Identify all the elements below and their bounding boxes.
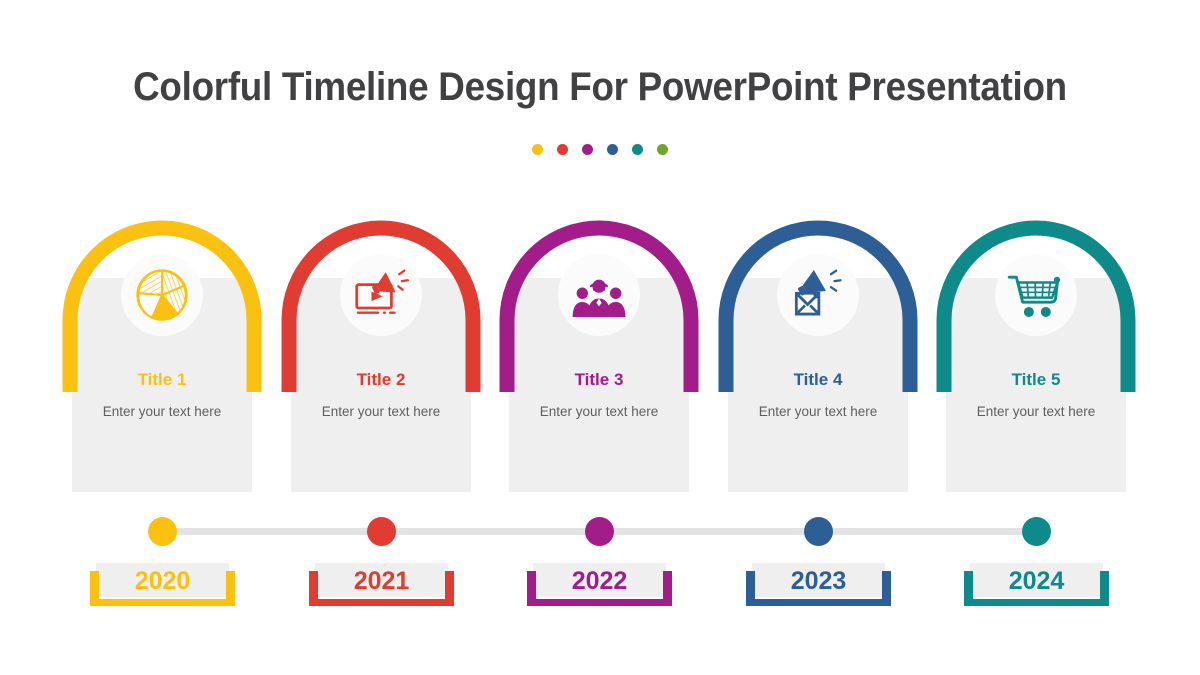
card-title: Title 5: [946, 370, 1126, 390]
card-title: Title 2: [291, 370, 471, 390]
card-description: Enter your text here: [285, 404, 477, 419]
timeline-milestone-dot-2[interactable]: [367, 517, 396, 546]
timeline-milestone-dot-3[interactable]: [585, 517, 614, 546]
year-label: 2022: [527, 567, 672, 596]
shopping-cart-icon-circle: [995, 254, 1077, 336]
timeline-milestone-dot-4[interactable]: [804, 517, 833, 546]
year-badge-2021[interactable]: 2021: [309, 563, 454, 606]
card-description: Enter your text here: [66, 404, 258, 419]
card-description: Enter your text here: [722, 404, 914, 419]
card-title: Title 4: [728, 370, 908, 390]
year-badge-2024[interactable]: 2024: [964, 563, 1109, 606]
year-badge-2023[interactable]: 2023: [746, 563, 891, 606]
email-marketing-megaphone-icon-circle: [777, 254, 859, 336]
video-marketing-megaphone-icon-circle: [340, 254, 422, 336]
card-description: Enter your text here: [503, 404, 695, 419]
timeline-milestone-dot-5[interactable]: [1022, 517, 1051, 546]
pie-chart-icon-circle: [121, 254, 203, 336]
year-badge-2020[interactable]: 2020: [90, 563, 235, 606]
year-label: 2024: [964, 567, 1109, 596]
year-label: 2020: [90, 567, 235, 596]
year-label: 2023: [746, 567, 891, 596]
year-badge-2022[interactable]: 2022: [527, 563, 672, 606]
card-description: Enter your text here: [940, 404, 1132, 419]
target-audience-people-icon-circle: [558, 254, 640, 336]
timeline-milestone-dot-1[interactable]: [148, 517, 177, 546]
card-title: Title 3: [509, 370, 689, 390]
year-label: 2021: [309, 567, 454, 596]
card-title: Title 1: [72, 370, 252, 390]
